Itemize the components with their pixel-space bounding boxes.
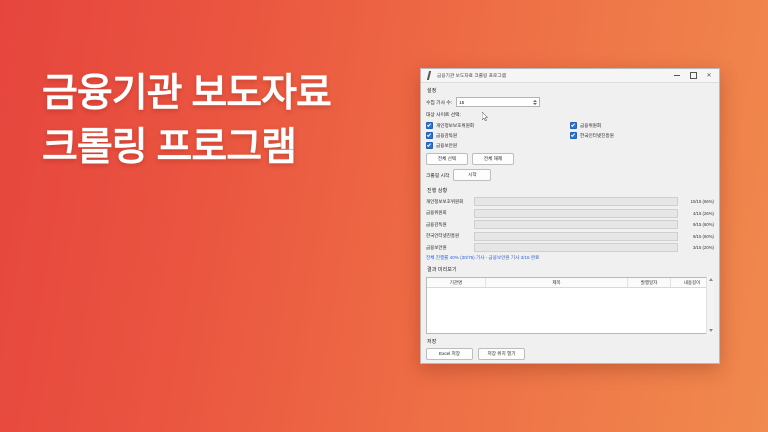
site-select-label: 대상 사이트 선택:: [426, 111, 461, 118]
site-checkbox-3[interactable]: 한국인터넷진흥원: [570, 132, 714, 139]
overall-status-text: 전체 진행률 40% (30/75) 기사 - 금융보안원 기사 3/15 완료: [426, 255, 714, 261]
scroll-up-icon[interactable]: [707, 276, 714, 283]
progress-row: 금융감독원 9/15 (60%): [426, 220, 714, 229]
minimize-button[interactable]: [669, 69, 685, 82]
mouse-cursor-icon: [482, 112, 488, 121]
stepper-up-icon[interactable]: [533, 100, 537, 102]
progress-bar-3: [474, 232, 678, 241]
checkbox-checked-icon[interactable]: [426, 122, 433, 129]
stepper-arrows[interactable]: [533, 100, 537, 105]
progress-bar-0: [474, 197, 678, 206]
checkbox-checked-icon[interactable]: [570, 122, 577, 129]
settings-group-title: 설정: [427, 87, 714, 94]
progress-group: 진행 상황 개인정보보호위원회 10/15 (66%) 금융위원회 4/15 (…: [426, 187, 714, 261]
progress-label-2: 금융감독원: [426, 222, 470, 228]
excel-save-button[interactable]: Excel 저장: [426, 348, 473, 360]
open-folder-button[interactable]: 저장 위치 열기: [478, 348, 525, 360]
settings-group: 설정 수집 기사 수: 15 대상 사이트 선택:: [426, 87, 714, 182]
progress-label-4: 금융보안원: [426, 245, 470, 251]
scroll-down-icon[interactable]: [707, 327, 714, 334]
progress-value-4: 3/15 (20%): [682, 245, 714, 250]
progress-group-title: 진행 상황: [427, 187, 714, 194]
checkbox-checked-icon[interactable]: [570, 132, 577, 139]
app-window: 금융기관 보도자료 크롤링 프로그램 ✕ 설정 수집 기사 수: 15: [420, 68, 720, 364]
select-buttons-row: 전체 선택 전체 해제: [426, 153, 714, 165]
hero-title-line-1: 금융기관 보도자료: [42, 68, 412, 120]
results-table[interactable]: 기관명 제목 발행일자 내용길이: [426, 277, 714, 334]
results-group: 결과 미리보기 기관명 제목 발행일자 내용길이: [426, 266, 714, 334]
maximize-button[interactable]: [685, 69, 701, 82]
crawl-start-row: 크롤링 시작 시작: [426, 169, 714, 181]
progress-label-0: 개인정보보호위원회: [426, 199, 470, 205]
progress-bar-4: [474, 243, 678, 252]
hero-title: 금융기관 보도자료 크롤링 프로그램: [42, 68, 412, 174]
site-checkbox-label-2: 금융감독원: [436, 133, 457, 139]
checkbox-checked-icon[interactable]: [426, 132, 433, 139]
progress-row: 금융위원회 4/15 (26%): [426, 209, 714, 218]
progress-row: 개인정보보호위원회 10/15 (66%): [426, 197, 714, 206]
site-checkbox-1[interactable]: 금융위원회: [570, 122, 714, 129]
column-header-title[interactable]: 제목: [486, 278, 628, 287]
progress-label-1: 금융위원회: [426, 210, 470, 216]
stepper-down-icon[interactable]: [533, 103, 537, 105]
site-checkbox-grid: 개인정보보호위원회 금융위원회 금융감독원 한국인터넷진흥원 금융보안원: [426, 122, 714, 152]
site-checkbox-label-3: 한국인터넷진흥원: [580, 133, 614, 139]
window-controls: ✕: [669, 69, 717, 82]
progress-value-1: 4/15 (26%): [682, 211, 714, 216]
results-group-title: 결과 미리보기: [427, 266, 714, 273]
site-checkbox-0[interactable]: 개인정보보호위원회: [426, 122, 570, 129]
window-title: 금융기관 보도자료 크롤링 프로그램: [437, 73, 669, 79]
article-count-value: 15: [459, 100, 533, 105]
progress-bar-1: [474, 209, 678, 218]
results-scrollbar[interactable]: [706, 276, 714, 334]
save-button-bar: Excel 저장 저장 위치 열기: [426, 348, 714, 360]
site-checkbox-label-4: 금융보안원: [436, 143, 457, 149]
progress-value-2: 9/15 (60%): [682, 222, 714, 227]
progress-row: 한국인터넷진흥원 9/15 (60%): [426, 232, 714, 241]
site-checkbox-2[interactable]: 금융감독원: [426, 132, 570, 139]
window-client-area: 설정 수집 기사 수: 15 대상 사이트 선택:: [421, 83, 719, 363]
article-count-stepper[interactable]: 15: [456, 97, 540, 107]
select-all-button[interactable]: 전체 선택: [426, 153, 468, 165]
column-header-agency[interactable]: 기관명: [427, 278, 486, 287]
close-button[interactable]: ✕: [701, 69, 717, 82]
site-checkbox-label-0: 개인정보보호위원회: [436, 123, 474, 129]
start-button[interactable]: 시작: [453, 169, 491, 181]
window-titlebar[interactable]: 금융기관 보도자료 크롤링 프로그램 ✕: [421, 69, 719, 83]
progress-bar-2: [474, 220, 678, 229]
app-icon: [425, 71, 434, 80]
checkbox-checked-icon[interactable]: [426, 142, 433, 149]
article-count-label: 수집 기사 수:: [426, 99, 452, 106]
progress-value-0: 10/15 (66%): [682, 199, 714, 204]
crawl-start-label: 크롤링 시작: [426, 172, 449, 179]
article-count-row: 수집 기사 수: 15: [426, 97, 714, 107]
site-checkbox-4[interactable]: 금융보안원: [426, 142, 570, 149]
progress-label-3: 한국인터넷진흥원: [426, 233, 470, 239]
site-checkbox-label-1: 금융위원회: [580, 123, 601, 129]
results-table-header: 기관명 제목 발행일자 내용길이: [427, 278, 713, 288]
progress-row: 금융보안원 3/15 (20%): [426, 243, 714, 252]
site-select-row: 대상 사이트 선택:: [426, 111, 714, 118]
clear-all-button[interactable]: 전체 해제: [472, 153, 514, 165]
save-group: 저장 Excel 저장 저장 위치 열기: [426, 338, 714, 360]
progress-value-3: 9/15 (60%): [682, 234, 714, 239]
results-table-body: [427, 288, 713, 333]
hero-title-line-2: 크롤링 프로그램: [42, 122, 412, 174]
column-header-date[interactable]: 발행일자: [628, 278, 671, 287]
save-group-title: 저장: [427, 338, 714, 345]
results-table-outer: 기관명 제목 발행일자 내용길이: [426, 276, 714, 334]
